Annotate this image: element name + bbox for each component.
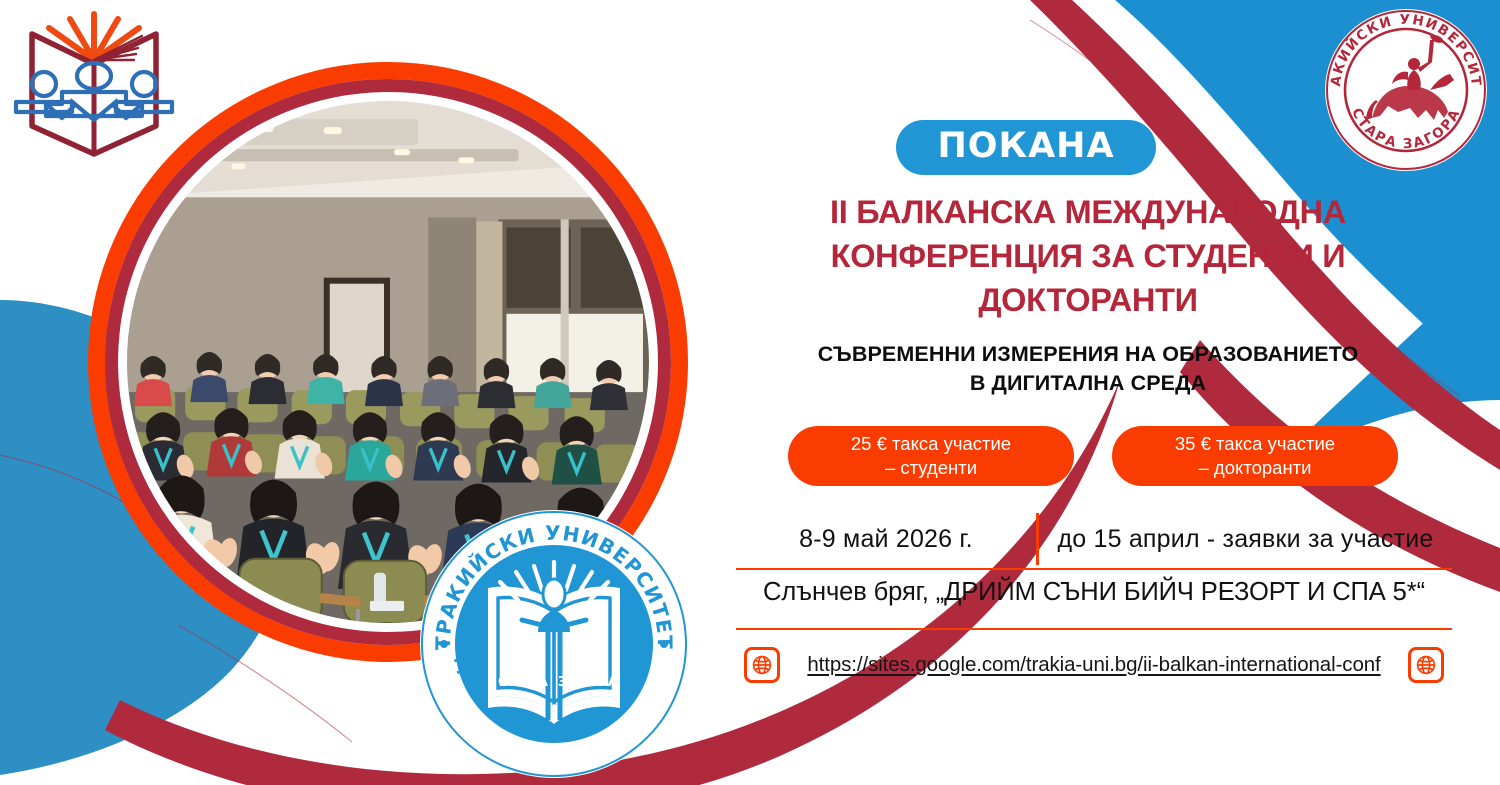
title-line-1: II БАЛКАНСКА МЕЖДУНАРОДНА — [718, 190, 1458, 234]
trakia-university-seal: ТРАКИЙСКИ УНИВЕРСИТЕТ СТАРА ЗАГОРА — [1322, 6, 1490, 174]
submission-deadline: до 15 април - заявки за участие — [1039, 525, 1452, 554]
svg-text:ЗАГОРА: ЗАГОРА — [558, 674, 619, 690]
fee-doctoral-group: – докторанти — [1199, 456, 1312, 480]
globe-icon — [744, 647, 780, 683]
fee-students-group: – студенти — [885, 456, 977, 480]
fee-badge-doctoral: 35 € такса участие – докторанти — [1112, 426, 1398, 486]
conference-invitation-poster: ТРАКИЙСКИ УНИВЕРСИТЕТ СТАРА ЗАГОРА — [0, 0, 1500, 785]
divider-rule-top — [736, 568, 1452, 570]
website-link-row: https://sites.google.com/trakia-uni.bg/i… — [744, 640, 1444, 690]
orange-rays-icon — [49, 14, 139, 60]
svg-text:СТАРА: СТАРА — [498, 674, 548, 690]
title-line-3: ДОКТОРАНТИ — [718, 278, 1458, 322]
globe-icon — [1408, 647, 1444, 683]
pedagogical-faculty-seal: ТРАКИЙСКИ УНИВЕРСИТЕТ ПЕДАГОГИЧЕСКИ ФАКУ… — [418, 508, 690, 780]
venue-text: Слънчев бряг, „ДРИЙМ СЪНИ БИЙЧ РЕЗОРТ И … — [726, 578, 1462, 607]
page-subtitle: СЪВРЕМЕННИ ИЗМЕРЕНИЯ НА ОБРАЗОВАНИЕТО В … — [718, 340, 1458, 398]
fee-badge-students: 25 € такса участие – студенти — [788, 426, 1074, 486]
divider-rule-bottom — [736, 628, 1452, 630]
title-line-2: КОНФЕРЕНЦИЯ ЗА СТУДЕНТИ И — [718, 234, 1458, 278]
fee-badges: 25 € такса участие – студенти 35 € такса… — [748, 426, 1438, 486]
fee-students-amount: 25 € такса участие — [851, 432, 1011, 456]
fee-doctoral-amount: 35 € такса участие — [1175, 432, 1335, 456]
pokana-badge-label: ПОКАНА — [937, 129, 1114, 166]
date-deadline-row: 8-9 май 2026 г. до 15 април - заявки за … — [736, 510, 1452, 568]
pokana-badge: ПОКАНА — [896, 120, 1156, 175]
page-title: II БАЛКАНСКА МЕЖДУНАРОДНА КОНФЕРЕНЦИЯ ЗА… — [718, 190, 1458, 322]
subtitle-line-2: В ДИГИТАЛНА СРЕДА — [718, 369, 1458, 398]
subtitle-line-1: СЪВРЕМЕННИ ИЗМЕРЕНИЯ НА ОБРАЗОВАНИЕТО — [718, 340, 1458, 369]
conference-website-link[interactable]: https://sites.google.com/trakia-uni.bg/i… — [780, 653, 1408, 677]
education-rays-logo — [6, 8, 182, 158]
event-date: 8-9 май 2026 г. — [736, 525, 1036, 554]
